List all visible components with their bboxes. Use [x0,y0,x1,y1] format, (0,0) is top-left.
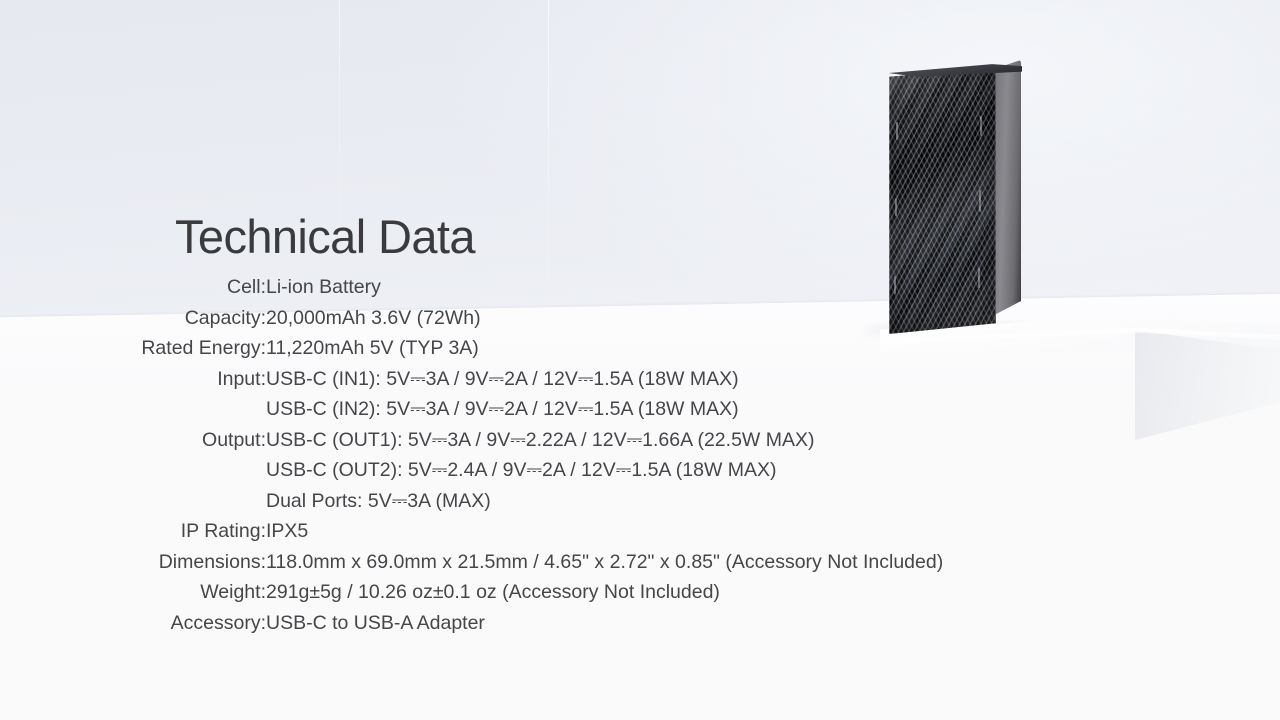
spec-row: Capacity:20,000mAh 3.6V (72Wh) [0,303,1100,334]
spec-label: Dimensions: [0,547,266,578]
spec-label: Capacity: [0,303,266,334]
spec-value: USB-C (OUT2): 5V⎓2.4A / 9V⎓2A / 12V⎓1.5A… [266,455,1100,486]
spec-value: USB-C (IN1): 5V⎓3A / 9V⎓2A / 12V⎓1.5A (1… [266,364,1100,395]
spec-row: Dimensions:118.0mm x 69.0mm x 21.5mm / 4… [0,547,1100,578]
spec-row: Output:USB-C (OUT1): 5V⎓3A / 9V⎓2.22A / … [0,425,1100,456]
spec-row: IP Rating:IPX5 [0,516,1100,547]
spec-value: USB-C (IN2): 5V⎓3A / 9V⎓2A / 12V⎓1.5A (1… [266,394,1100,425]
spec-label: Weight: [0,577,266,608]
spec-label [0,394,266,425]
spec-row: Rated Energy:11,220mAh 5V (TYP 3A) [0,333,1100,364]
spec-value: 291g±5g / 10.26 oz±0.1 oz (Accessory Not… [266,577,1100,608]
spec-value: USB-C (OUT1): 5V⎓3A / 9V⎓2.22A / 12V⎓1.6… [266,425,1100,456]
spec-label: Rated Energy: [0,333,266,364]
spec-label: Output: [0,425,266,456]
spec-value: 118.0mm x 69.0mm x 21.5mm / 4.65" x 2.72… [266,547,1100,578]
power-bank-mark-left-top [896,122,898,140]
spec-label: Input: [0,364,266,395]
spec-label [0,486,266,517]
spec-value: Li-ion Battery [266,272,1100,303]
page-title: Technical Data [175,209,475,264]
spec-value: 11,220mAh 5V (TYP 3A) [266,333,1100,364]
spec-value: Dual Ports: 5V⎓3A (MAX) [266,486,1100,517]
spec-row: USB-C (IN2): 5V⎓3A / 9V⎓2A / 12V⎓1.5A (1… [0,394,1100,425]
spec-label: Cell: [0,272,266,303]
spec-row: USB-C (OUT2): 5V⎓2.4A / 9V⎓2A / 12V⎓1.5A… [0,455,1100,486]
spec-label: Accessory: [0,608,266,639]
spec-value: IPX5 [266,516,1100,547]
spec-label: IP Rating: [0,516,266,547]
specification-table: Cell:Li-ion BatteryCapacity:20,000mAh 3.… [0,272,1100,638]
spec-row: Weight:291g±5g / 10.26 oz±0.1 oz (Access… [0,577,1100,608]
spec-value: USB-C to USB-A Adapter [266,608,1100,639]
power-bank-mark-left-mid [895,198,897,216]
product-spec-slide: Technical Data Cell:Li-ion BatteryCapaci… [0,0,1280,720]
spec-row: Accessory:USB-C to USB-A Adapter [0,608,1100,639]
spec-row: Dual Ports: 5V⎓3A (MAX) [0,486,1100,517]
power-bank-mark-right-top [980,116,982,136]
spec-row: Cell:Li-ion Battery [0,272,1100,303]
spec-label [0,455,266,486]
spec-value: 20,000mAh 3.6V (72Wh) [266,303,1100,334]
power-bank-mark-right-mid [979,190,981,212]
spec-row: Input:USB-C (IN1): 5V⎓3A / 9V⎓2A / 12V⎓1… [0,364,1100,395]
